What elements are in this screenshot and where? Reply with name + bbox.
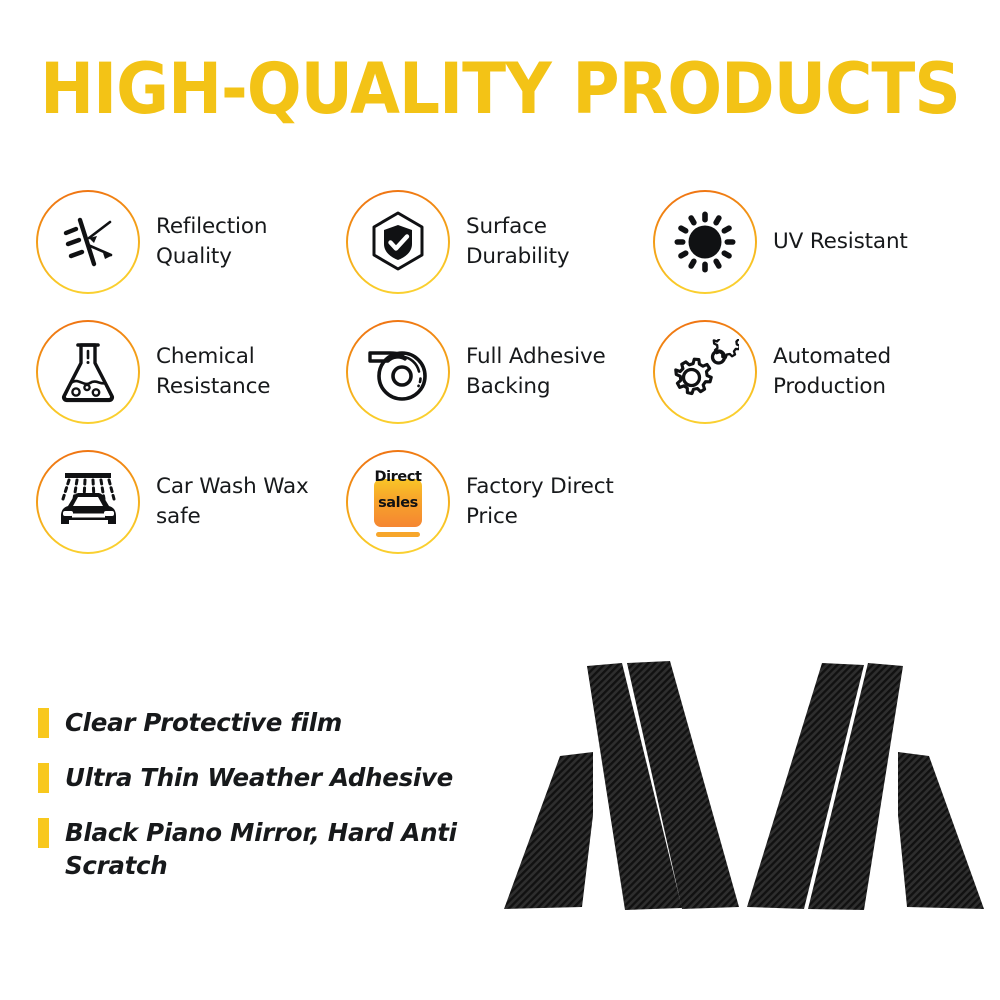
sun-icon — [672, 209, 738, 275]
feature-icon-ring: Direct sales — [346, 450, 450, 554]
feature-icon-ring — [346, 190, 450, 294]
bullet-marker-icon — [38, 708, 49, 738]
product-image-carbon-pillar-set — [492, 648, 1000, 930]
feature-label: Refilection Quality — [156, 212, 336, 272]
feature-item-automated-production: Automated Production — [653, 314, 953, 430]
feature-label: UV Resistant — [773, 227, 908, 257]
feature-icon-ring — [653, 320, 757, 424]
feature-icon-ring — [653, 190, 757, 294]
pillar-piece — [898, 752, 984, 909]
page-title: HIGH-QUALITY PRODUCTS — [40, 52, 960, 126]
feature-icon-ring — [36, 190, 140, 294]
bullet-marker-icon — [38, 818, 49, 848]
feature-label: Chemical Resistance — [156, 342, 336, 402]
badge-text-line1: Direct — [374, 469, 421, 485]
shield-hexagon-icon — [365, 209, 431, 275]
list-item: Black Piano Mirror, Hard Anti Scratch — [38, 816, 508, 882]
feature-icon-ring — [36, 450, 140, 554]
bullet-text: Black Piano Mirror, Hard Anti Scratch — [65, 816, 508, 882]
pillar-piece — [504, 752, 593, 909]
bullet-text: Ultra Thin Weather Adhesive — [65, 761, 453, 794]
badge-text: Direct sales — [368, 468, 428, 512]
feature-label: Automated Production — [773, 342, 953, 402]
feature-item-surface-durability: Surface Durability — [346, 184, 646, 300]
gears-icon — [671, 339, 739, 405]
list-item: Clear Protective film — [38, 706, 508, 739]
feature-label: Surface Durability — [466, 212, 646, 272]
feature-label: Car Wash Wax safe — [156, 472, 336, 532]
feature-item-reflection-quality: Refilection Quality — [36, 184, 336, 300]
feature-label: Full Adhesive Backing — [466, 342, 646, 402]
reflection-icon — [56, 210, 120, 274]
feature-label: Factory Direct Price — [466, 472, 646, 532]
flask-icon — [56, 339, 120, 405]
carbon-pillar-pieces — [492, 648, 1000, 930]
badge-bar — [376, 532, 420, 537]
bullet-text: Clear Protective film — [65, 706, 342, 739]
direct-sales-badge-icon: Direct sales — [368, 466, 428, 538]
tape-roll-icon — [364, 340, 432, 404]
feature-item-chemical-resistance: Chemical Resistance — [36, 314, 336, 430]
badge-text-line2: sales — [368, 494, 428, 513]
feature-grid: Refilection Quality Surface Durability — [36, 176, 966, 576]
bullet-marker-icon — [38, 763, 49, 793]
car-wash-icon — [53, 470, 123, 534]
bullet-list: Clear Protective film Ultra Thin Weather… — [38, 706, 508, 904]
feature-item-factory-direct-price: Direct sales Factory Direct Price — [346, 444, 646, 560]
feature-icon-ring — [346, 320, 450, 424]
feature-item-uv-resistant: UV Resistant — [653, 184, 953, 300]
feature-item-car-wash-wax-safe: Car Wash Wax safe — [36, 444, 336, 560]
feature-item-full-adhesive-backing: Full Adhesive Backing — [346, 314, 646, 430]
list-item: Ultra Thin Weather Adhesive — [38, 761, 508, 794]
feature-icon-ring — [36, 320, 140, 424]
